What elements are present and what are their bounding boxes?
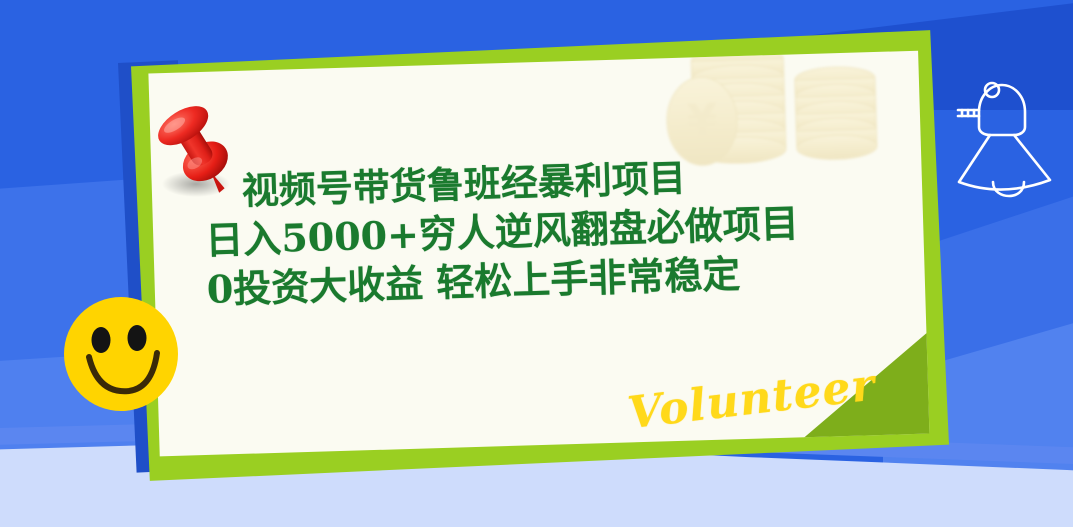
poster-card: ¥ 视频号带货鲁班经暴利项目 日入5000+穷人逆风翻盘必做项目 0投资大收益 …: [131, 30, 949, 481]
coin-yen-symbol: ¥: [686, 95, 718, 147]
headline-block: 视频号带货鲁班经暴利项目 日入5000+穷人逆风翻盘必做项目 0投资大收益 轻松…: [203, 147, 927, 315]
smiley-face-icon: [62, 295, 180, 413]
pushpin-icon: [152, 92, 248, 202]
poster-canvas: ¥ 视频号带货鲁班经暴利项目 日入5000+穷人逆风翻盘必做项目 0投资大收益 …: [0, 0, 1073, 527]
lamp-outline-icon: [952, 72, 1064, 198]
card-paper: ¥ 视频号带货鲁班经暴利项目 日入5000+穷人逆风翻盘必做项目 0投资大收益 …: [148, 51, 929, 457]
